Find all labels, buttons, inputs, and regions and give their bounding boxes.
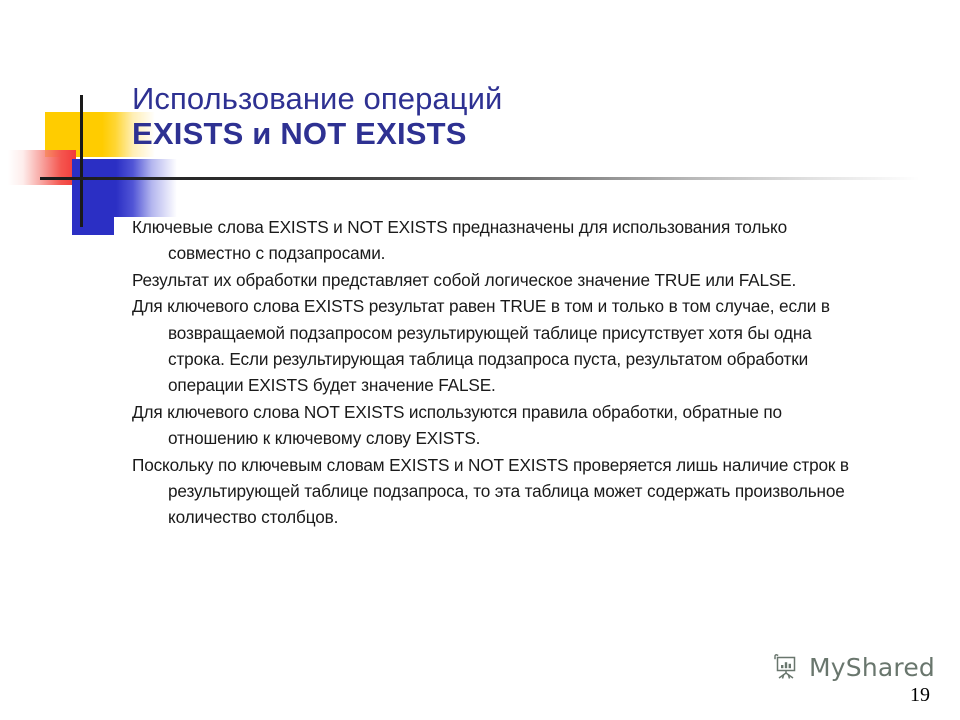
body-paragraph: Результат их обработки представляет собо… bbox=[132, 267, 872, 293]
slide-title-line-2: EXISTS и NOT EXISTS bbox=[132, 118, 892, 151]
ornament-vertical-rule bbox=[80, 95, 83, 227]
body-paragraph-text: Для ключевого слова EXISTS результат рав… bbox=[132, 296, 830, 395]
slide-title: Использование операций EXISTS и NOT EXIS… bbox=[132, 83, 892, 151]
slide-title-line-1: Использование операций bbox=[132, 83, 892, 116]
myshared-watermark-label: MyShared bbox=[809, 653, 935, 682]
presentation-chart-icon bbox=[772, 652, 802, 682]
body-paragraph: Поскольку по ключевым словам EXISTS и NO… bbox=[132, 452, 872, 531]
myshared-watermark: MyShared bbox=[772, 652, 935, 682]
body-paragraph-text: Для ключевого слова NOT EXISTS использую… bbox=[132, 402, 782, 448]
ornament-blue-foot-block bbox=[72, 213, 114, 235]
body-paragraph: Для ключевого слова NOT EXISTS использую… bbox=[132, 399, 872, 452]
page-number: 19 bbox=[910, 684, 930, 707]
slide-canvas: Использование операций EXISTS и NOT EXIS… bbox=[0, 0, 960, 720]
ornament-horizontal-rule bbox=[40, 177, 920, 180]
slide-body: Ключевые слова EXISTS и NOT EXISTS предн… bbox=[132, 214, 872, 531]
body-paragraph-text: Ключевые слова EXISTS и NOT EXISTS предн… bbox=[132, 217, 787, 263]
body-paragraph-text: Поскольку по ключевым словам EXISTS и NO… bbox=[132, 455, 849, 528]
body-paragraph: Ключевые слова EXISTS и NOT EXISTS предн… bbox=[132, 214, 872, 267]
ornament-blue-block bbox=[72, 159, 177, 217]
body-paragraph-text: Результат их обработки представляет собо… bbox=[132, 270, 796, 290]
body-paragraph: Для ключевого слова EXISTS результат рав… bbox=[132, 293, 872, 399]
